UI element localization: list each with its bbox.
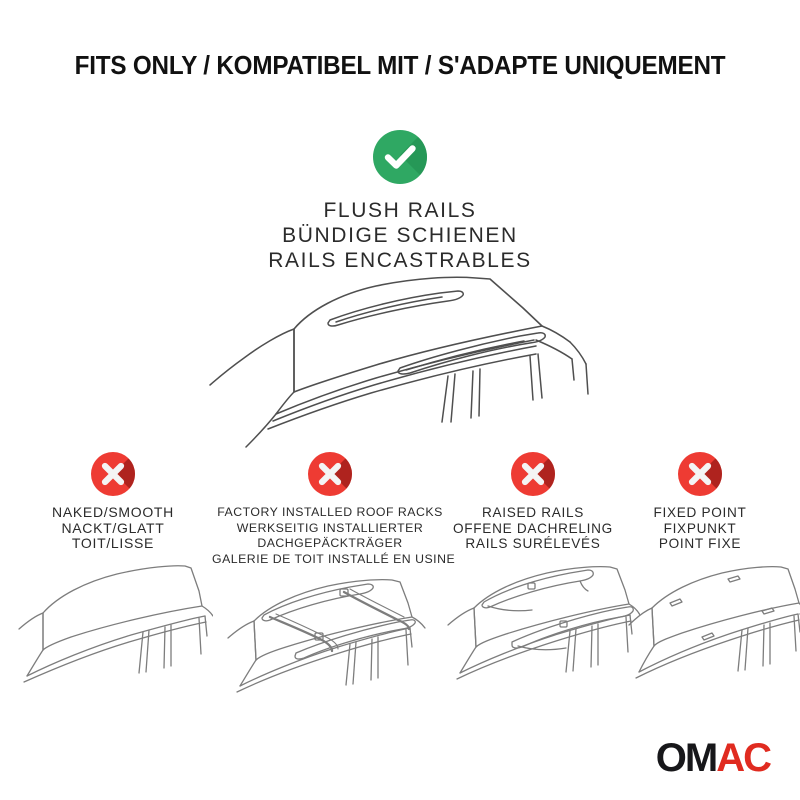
caption-line-fr: TOIT/LISSE [13, 536, 213, 552]
incompatible-item-factory-roof-racks: FACTORY INSTALLED ROOF RACKS WERKSEITIG … [212, 452, 448, 703]
x-glyph [511, 452, 555, 496]
caption-line-en: FIXED POINT [624, 505, 776, 521]
compatible-caption: FLUSH RAILS BÜNDIGE SCHIENEN RAILS ENCAS… [0, 198, 800, 273]
caption-line-de: FIXPUNKT [624, 521, 776, 537]
logo-text-red: AC [716, 736, 770, 780]
item-caption: FACTORY INSTALLED ROOF RACKS WERKSEITIG … [212, 505, 448, 567]
item-caption: RAISED RAILS OFFENE DACHRELING RAILS SUR… [440, 505, 626, 552]
car-roof-raised-rails-illustration [440, 558, 626, 688]
caption-line-fr: GALERIE DE TOIT INSTALLÉ EN USINE [212, 552, 448, 568]
x-circle-icon [308, 452, 352, 496]
check-glyph [373, 130, 427, 184]
caption-line-de-2: DACHGEPÄCKTRÄGER [212, 536, 448, 552]
caption-line-de: NACKT/GLATT [13, 521, 213, 537]
incompatible-section: NAKED/SMOOTH NACKT/GLATT TOIT/LISSE [0, 452, 800, 702]
car-roof-fixed-point-illustration [624, 558, 776, 688]
x-glyph [308, 452, 352, 496]
logo-text-dark: OM [656, 736, 716, 780]
compatibility-infographic: FITS ONLY / KOMPATIBEL MIT / S'ADAPTE UN… [0, 0, 800, 800]
x-circle-icon [511, 452, 555, 496]
item-caption: NAKED/SMOOTH NACKT/GLATT TOIT/LISSE [13, 505, 213, 552]
check-circle-icon [373, 130, 427, 184]
caption-line-fr: RAILS SURÉLEVÉS [440, 536, 626, 552]
caption-line-en: RAISED RAILS [440, 505, 626, 521]
car-roof-flush-rails-illustration [190, 272, 620, 452]
caption-line-de: BÜNDIGE SCHIENEN [0, 223, 800, 248]
car-roof-naked-smooth-illustration [13, 558, 213, 688]
car-roof-factory-roof-racks-illustration [212, 573, 448, 703]
incompatible-item-raised-rails: RAISED RAILS OFFENE DACHRELING RAILS SUR… [440, 452, 626, 688]
caption-line-de: OFFENE DACHRELING [440, 521, 626, 537]
caption-line-de-1: WERKSEITIG INSTALLIERTER [212, 521, 448, 537]
x-circle-icon [678, 452, 722, 496]
caption-line-en: FLUSH RAILS [0, 198, 800, 223]
incompatible-item-fixed-point: FIXED POINT FIXPUNKT POINT FIXE [624, 452, 776, 688]
caption-line-en: NAKED/SMOOTH [13, 505, 213, 521]
x-glyph [678, 452, 722, 496]
compatible-section: FLUSH RAILS BÜNDIGE SCHIENEN RAILS ENCAS… [0, 130, 800, 273]
incompatible-item-naked-smooth: NAKED/SMOOTH NACKT/GLATT TOIT/LISSE [13, 452, 213, 688]
omac-logo: OMAC [656, 738, 770, 778]
item-caption: FIXED POINT FIXPUNKT POINT FIXE [624, 505, 776, 552]
caption-line-fr: POINT FIXE [624, 536, 776, 552]
x-circle-icon [91, 452, 135, 496]
x-glyph [91, 452, 135, 496]
caption-line-fr: RAILS ENCASTRABLES [0, 248, 800, 273]
caption-line-en: FACTORY INSTALLED ROOF RACKS [212, 505, 448, 521]
page-title: FITS ONLY / KOMPATIBEL MIT / S'ADAPTE UN… [20, 52, 780, 81]
